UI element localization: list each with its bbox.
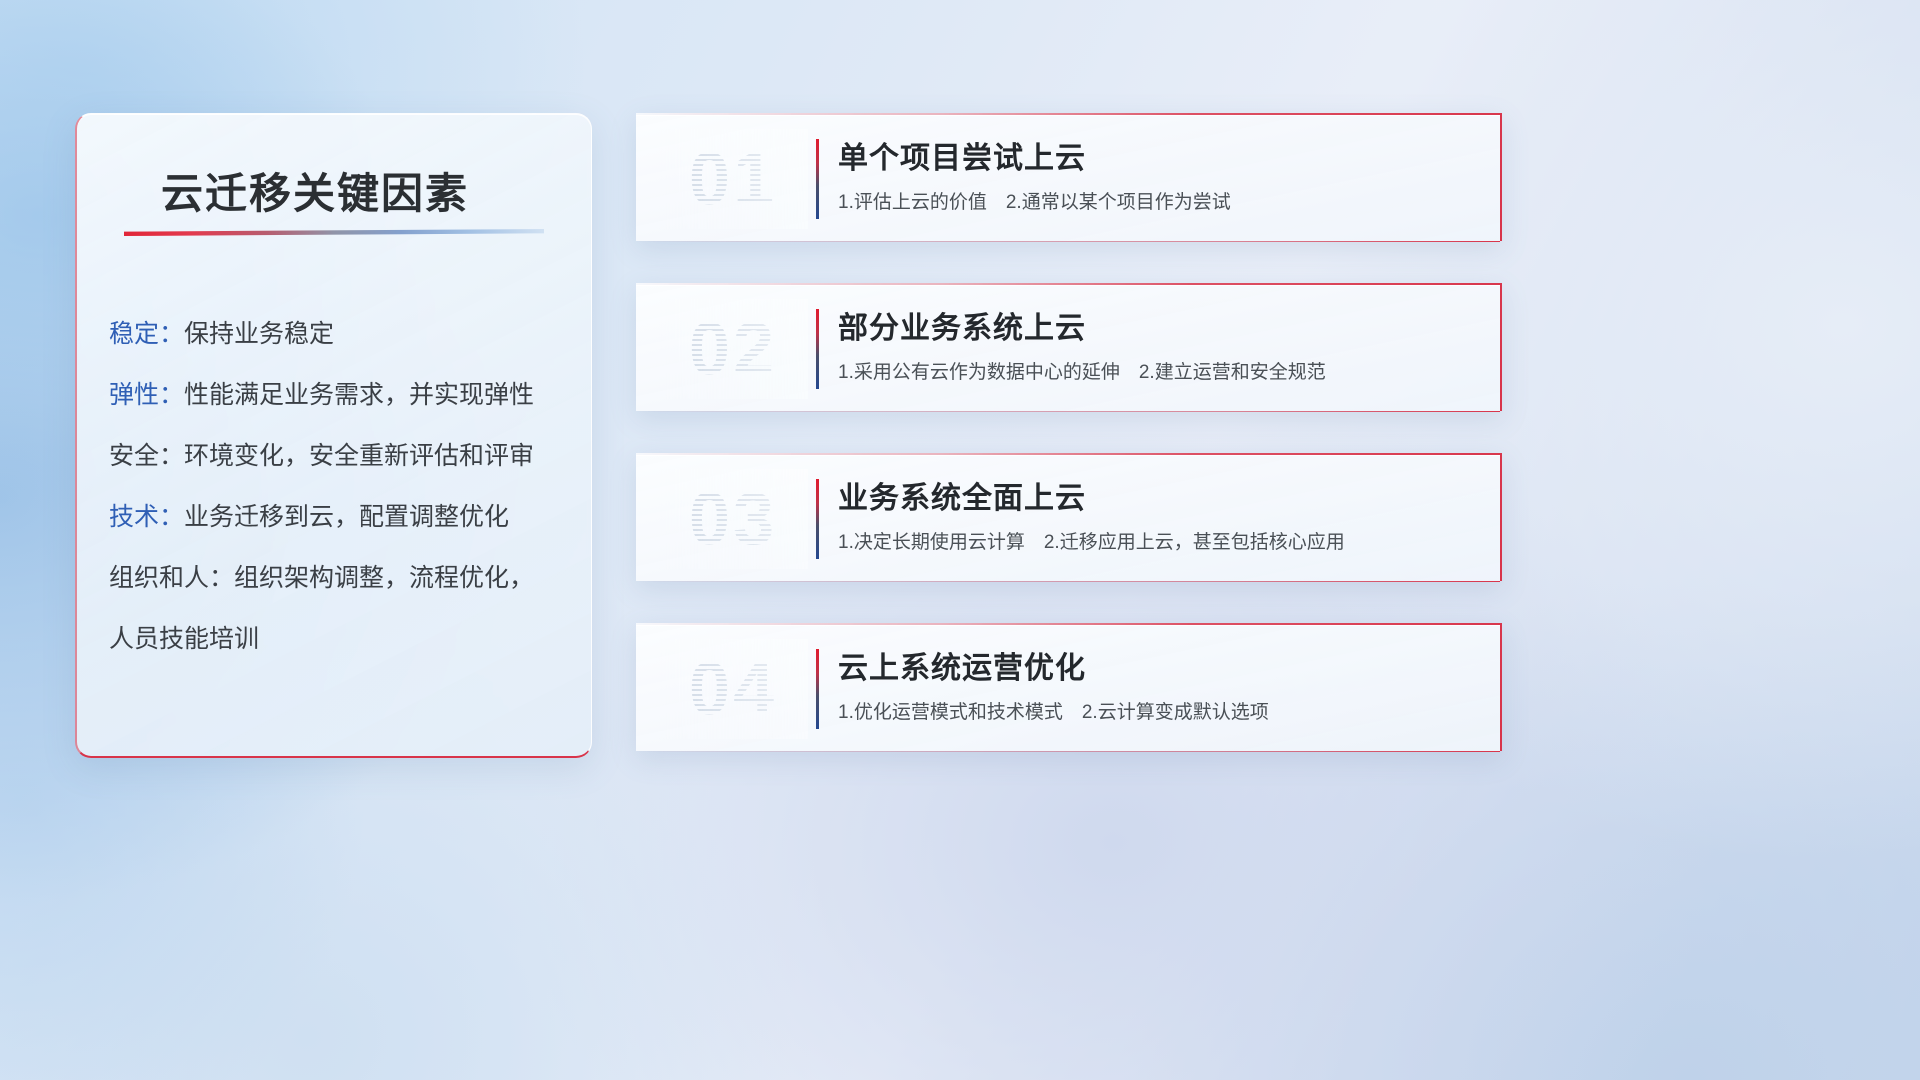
list-item: 技术：业务迁移到云，配置调整优化: [109, 487, 563, 548]
key-factors-panel: 云迁移关键因素 稳定：保持业务稳定 弹性：性能满足业务需求，并实现弹性 安全：环…: [75, 113, 592, 758]
list-item: 弹性：性能满足业务需求，并实现弹性: [109, 365, 563, 426]
stage-number: 02: [658, 299, 808, 399]
list-item: 安全：环境变化，安全重新评估和评审: [109, 426, 563, 487]
factor-key: 组织和人：: [109, 564, 234, 592]
stage-card[interactable]: 02 部分业务系统上云 1.采用公有云作为数据中心的延伸 2.建立运营和安全规范: [636, 283, 1502, 411]
factor-key: 弹性：: [109, 381, 184, 409]
list-item: 稳定：保持业务稳定: [109, 304, 563, 365]
factor-value: 环境变化，安全重新评估和评审: [184, 442, 534, 470]
divider: [816, 309, 819, 389]
stage-number: 03: [658, 469, 808, 569]
slide-canvas: 云迁移关键因素 稳定：保持业务稳定 弹性：性能满足业务需求，并实现弹性 安全：环…: [0, 0, 1920, 1080]
stage-subtitle: 1.决定长期使用云计算 2.迁移应用上云，甚至包括核心应用: [838, 527, 1345, 554]
factor-value: 性能满足业务需求，并实现弹性: [184, 381, 534, 409]
stage-title: 业务系统全面上云: [838, 473, 1086, 517]
stage-number: 04: [658, 639, 808, 739]
factor-key: 稳定：: [109, 320, 184, 348]
factor-value: 组织架构调整，流程优化，: [234, 564, 534, 592]
factor-key: 安全：: [109, 442, 184, 470]
stage-title: 部分业务系统上云: [838, 303, 1086, 347]
factor-value: 保持业务稳定: [184, 320, 334, 348]
title-underline-decoration: [124, 229, 544, 236]
stage-card-list: 01 单个项目尝试上云 1.评估上云的价值 2.通常以某个项目作为尝试 02 部…: [636, 113, 1502, 793]
factor-list: 稳定：保持业务稳定 弹性：性能满足业务需求，并实现弹性 安全：环境变化，安全重新…: [109, 304, 563, 670]
list-item-continuation: 人员技能培训: [109, 609, 563, 670]
stage-title: 云上系统运营优化: [838, 643, 1086, 687]
stage-subtitle: 1.评估上云的价值 2.通常以某个项目作为尝试: [838, 187, 1231, 214]
stage-card[interactable]: 03 业务系统全面上云 1.决定长期使用云计算 2.迁移应用上云，甚至包括核心应…: [636, 453, 1502, 581]
divider: [816, 479, 819, 559]
page-title: 云迁移关键因素: [161, 160, 469, 221]
stage-subtitle: 1.采用公有云作为数据中心的延伸 2.建立运营和安全规范: [838, 357, 1326, 384]
divider: [816, 139, 819, 219]
divider: [816, 649, 819, 729]
stage-card[interactable]: 01 单个项目尝试上云 1.评估上云的价值 2.通常以某个项目作为尝试: [636, 113, 1502, 241]
stage-card[interactable]: 04 云上系统运营优化 1.优化运营模式和技术模式 2.云计算变成默认选项: [636, 623, 1502, 751]
list-item: 组织和人：组织架构调整，流程优化，: [109, 548, 563, 609]
stage-title: 单个项目尝试上云: [838, 133, 1086, 177]
stage-subtitle: 1.优化运营模式和技术模式 2.云计算变成默认选项: [838, 697, 1269, 724]
factor-key: 技术：: [109, 503, 184, 531]
factor-value: 人员技能培训: [109, 625, 259, 653]
stage-number: 01: [658, 129, 808, 229]
factor-value: 业务迁移到云，配置调整优化: [184, 503, 509, 531]
